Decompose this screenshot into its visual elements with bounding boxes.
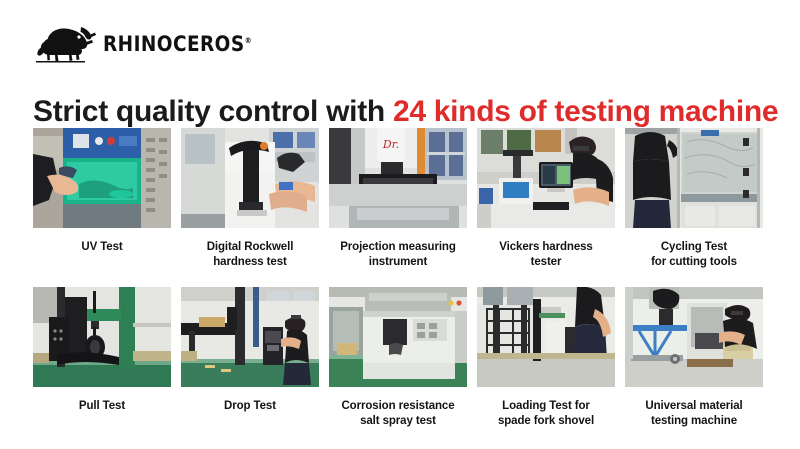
testing-machine-gallery: UV Test [33,128,775,428]
drop-test-rig-photo [181,287,319,387]
brand-wordmark: RHINOCEROS® [103,34,252,55]
gallery-item-caption: UV Test [27,240,177,255]
gallery-item-caption: Cycling Test for cutting tools [619,240,769,269]
page-title-accent: 24 kinds of testing machine [393,95,778,128]
gallery-item-cycling-test[interactable]: Cycling Test for cutting tools [625,128,763,269]
brand-logo: RHINOCEROS® [33,21,272,67]
rhinoceros-logo-icon [33,23,99,65]
salt-spray-corrosion-chamber-photo [329,287,467,387]
projection-measuring-instrument-photo: Dr. [329,128,467,228]
svg-text:Dr.: Dr. [382,138,399,151]
gallery-row: UV Test [33,128,775,269]
page-title-lead: Strict quality control with [33,95,393,128]
registered-trademark-icon: ® [245,36,252,45]
gallery-item-projection-measuring[interactable]: Dr. Projection measuring instrument [329,128,467,269]
gallery-item-caption: Corrosion resistance salt spray test [323,399,473,428]
brand-wordmark-text: RHINOCEROS [103,32,245,56]
cycling-test-cutting-tools-photo [625,128,763,228]
gallery-item-caption: Vickers hardness tester [471,240,621,269]
gallery-item-vickers-hardness[interactable]: Vickers hardness tester [477,128,615,269]
gallery-item-universal-material[interactable]: Universal material testing machine [625,287,763,428]
uv-test-chamber-photo [33,128,171,228]
page-title: Strict quality control with 24 kinds of … [33,94,773,130]
gallery-row: Pull Test [33,287,775,428]
gallery-item-caption: Universal material testing machine [619,399,769,428]
gallery-item-caption: Projection measuring instrument [323,240,473,269]
gallery-item-caption: Pull Test [27,399,177,414]
gallery-item-digital-rockwell[interactable]: Digital Rockwell hardness test [181,128,319,269]
gallery-item-caption: Drop Test [175,399,325,414]
gallery-item-corrosion-salt-spray[interactable]: Corrosion resistance salt spray test [329,287,467,428]
gallery-item-pull-test[interactable]: Pull Test [33,287,171,428]
pull-test-rig-photo [33,287,171,387]
universal-material-testing-machine-photo [625,287,763,387]
gallery-item-loading-test[interactable]: Loading Test for spade fork shovel [477,287,615,428]
gallery-item-caption: Digital Rockwell hardness test [175,240,325,269]
gallery-item-uv-test[interactable]: UV Test [33,128,171,269]
digital-rockwell-hardness-tester-photo [181,128,319,228]
loading-test-spade-fork-shovel-photo [477,287,615,387]
gallery-item-caption: Loading Test for spade fork shovel [471,399,621,428]
gallery-item-drop-test[interactable]: Drop Test [181,287,319,428]
vickers-hardness-tester-photo [477,128,615,228]
